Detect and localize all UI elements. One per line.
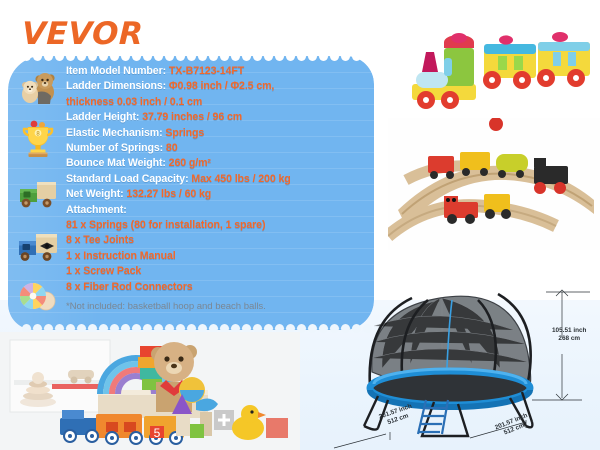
spec-value: Springs [165,127,204,139]
spec-label: Ladder Dimensions: [66,80,169,92]
spec-value: 1 x Instruction Manual [66,250,176,262]
spec-value: 132.27 lbs / 60 kg [126,188,211,200]
spec-line: 8 x Fiber Rod Connectors [66,280,366,295]
spec-value: Φ0.98 inch / Φ2.5 cm, [169,80,274,92]
spec-value: 8 x Tee Joints [66,234,134,246]
spec-value: Max 450 lbs / 200 kg [191,173,290,185]
spec-label: Ladder Height: [66,111,142,123]
teddy-bears-icon [14,62,62,110]
spec-label: Standard Load Capacity: [66,173,191,185]
spec-value: 1 x Screw Pack [66,265,141,277]
trampoline-diagram [330,282,600,450]
spec-line: Ladder Dimensions: Φ0.98 inch / Φ2.5 cm, [66,79,366,94]
spec-line: Ladder Height: 37.79 inches / 96 cm [66,110,366,125]
trampoline-height-dimension: 105.51 inch 268 cm [552,327,586,343]
spec-line: Standard Load Capacity: Max 450 lbs / 20… [66,172,366,187]
spec-line: 8 x Tee Joints [66,233,366,248]
spec-label: Net Weight: [66,188,126,200]
spec-line: Elastic Mechanism: Springs [66,126,366,141]
wooden-toy-train-photo [388,0,600,118]
spec-value: 260 g/m² [169,157,211,169]
spec-line: Item Model Number: TX-B7123-14FT [66,64,366,79]
spec-line: 1 x Instruction Manual [66,249,366,264]
spec-list: Item Model Number: TX-B7123-14FTLadder D… [66,64,366,312]
trophy-icon: 8 [14,114,62,162]
product-spec-infographic: VEVOR [0,0,600,450]
spec-line: Net Weight: 132.27 lbs / 60 kg [66,187,366,202]
spec-value: thickness 0.03 inch / 0.1 cm [66,96,202,108]
spec-label: Elastic Mechanism: [66,127,165,139]
vevor-logo: VEVOR [21,16,144,52]
green-toy-truck-icon [14,167,62,215]
spec-value: 37.79 inches / 96 cm [142,111,242,123]
spec-label: Bounce Mat Weight: [66,157,169,169]
toy-icon-column: 8 [14,62,62,322]
spec-value: 80 [166,142,178,154]
spec-value: 81 x Springs (80 for installation, 1 spa… [66,219,265,231]
spec-value: TX-B7123-14FT [169,65,244,77]
playroom-toys-photo: 5 [0,332,300,450]
spec-line: thickness 0.03 inch / 0.1 cm [66,95,366,110]
wooden-train-track-photo [388,118,600,250]
beach-ball-icon [14,272,62,320]
spec-label: Item Model Number: [66,65,169,77]
spec-line: 81 x Springs (80 for installation, 1 spa… [66,218,366,233]
spec-line: 1 x Screw Pack [66,264,366,279]
blue-toy-truck-icon [14,220,62,268]
spec-label: Number of Springs: [66,142,166,154]
spec-line: Attachment: [66,203,366,218]
spec-value: 8 x Fiber Rod Connectors [66,281,193,293]
spec-label: Attachment: [66,204,127,216]
not-included-note: *Not included: basketball hoop and beach… [66,301,366,312]
svg-text:5: 5 [154,426,161,440]
height-cm-value: 268 cm [558,335,580,342]
spec-line: Bounce Mat Weight: 260 g/m² [66,156,366,171]
spec-line: Number of Springs: 80 [66,141,366,156]
height-inch-value: 105.51 inch [552,327,586,334]
